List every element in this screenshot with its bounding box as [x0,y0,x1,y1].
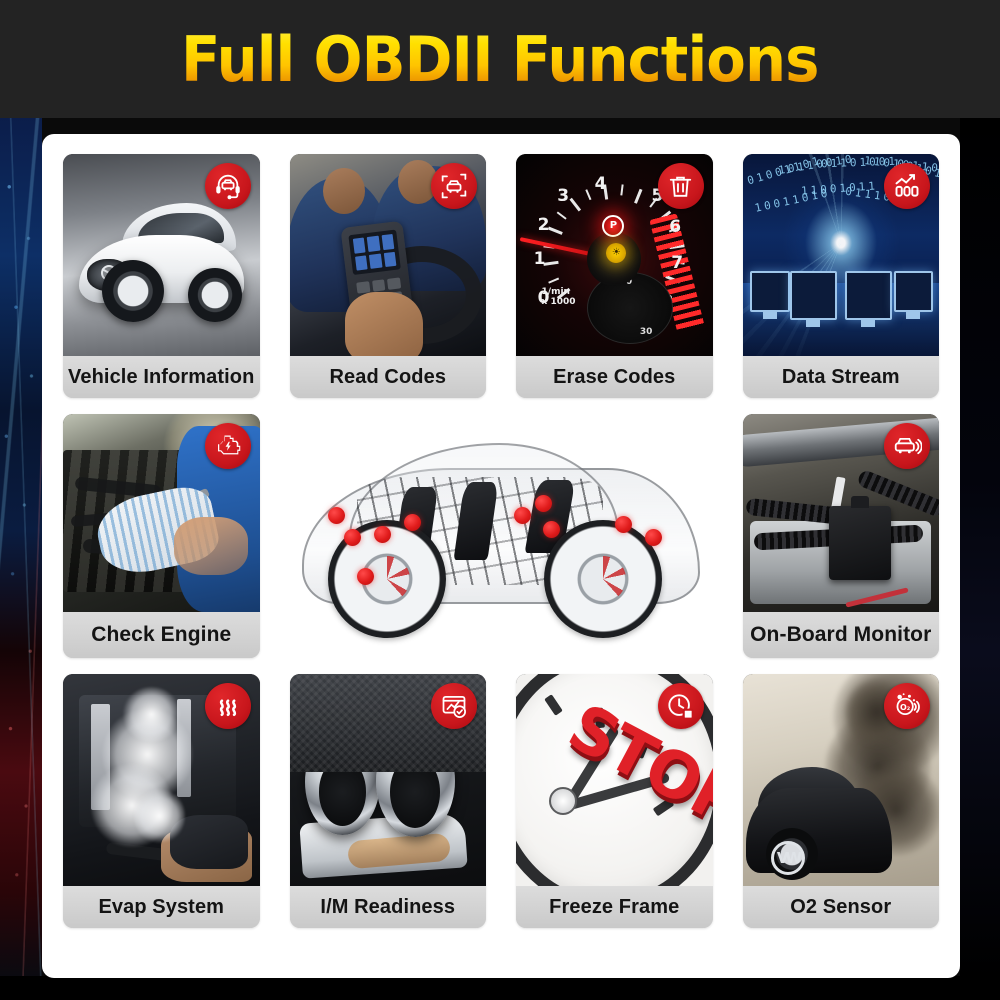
card-media-im-readiness [290,674,487,886]
feature-card-read-codes[interactable]: Read Codes [290,154,487,398]
feature-card-on-board-monitor[interactable]: On-Board Monitor [743,414,940,658]
content-panel: Vehicle Information [42,134,960,978]
right-dark-strip [960,118,1000,978]
card-label-read-codes: Read Codes [290,356,487,398]
gauge-tick-4: 4 [595,174,607,194]
gauge-unit-label: 1/min x 1000 [542,287,576,308]
feature-grid: Vehicle Information [63,154,939,958]
card-label-freeze-frame: Freeze Frame [516,886,713,928]
vw-badge: VW [771,841,805,875]
sensor-dot [357,568,374,585]
card-media-evap-system [63,674,260,886]
feature-card-check-engine[interactable]: Check Engine [63,414,260,658]
page-title: Full OBDII Functions [181,23,818,96]
gauge-tick-2: 2 [538,215,550,235]
report-check-icon [431,683,477,729]
svg-text:O₂: O₂ [900,703,911,712]
feature-card-vehicle-information[interactable]: Vehicle Information [63,154,260,398]
sensor-dot [514,507,531,524]
sensor-dot [535,495,552,512]
check-engine-icon [205,423,251,469]
clock-stop-icon [658,683,704,729]
left-tech-texture-strip [0,118,42,978]
bottom-black-strip [0,976,1000,1000]
card-label-check-engine: Check Engine [63,612,260,658]
card-label-on-board-monitor: On-Board Monitor [743,612,940,658]
trash-icon [658,163,704,209]
gauge-tick-6: 6 [669,217,681,237]
feature-card-evap-system[interactable]: Evap System [63,674,260,928]
card-media-freeze-frame: STOP [516,674,713,886]
bar-chart-trend-icon [884,163,930,209]
vapor-waves-icon [205,683,251,729]
card-label-im-readiness: I/M Readiness [290,886,487,928]
gauge-tick-7: 7 [671,253,683,273]
parking-brake-telltale: P [602,215,624,237]
card-media-data-stream: 01001101 10110010 01101001 11010110 0010… [743,154,940,356]
xray-car-illustration [290,414,713,658]
feature-card-erase-codes[interactable]: 0 1 2 3 4 5 6 7 8 1/min x 1000 90 30 [516,154,713,398]
car-signal-icon [884,423,930,469]
card-label-data-stream: Data Stream [743,356,940,398]
gauge-tick-1: 1 [534,249,546,269]
o2-sensor-icon: O₂ [884,683,930,729]
card-label-erase-codes: Erase Codes [516,356,713,398]
feature-card-im-readiness[interactable]: I/M Readiness [290,674,487,928]
feature-card-freeze-frame[interactable]: STOP Freeze Frame [516,674,713,928]
feature-card-o2-sensor[interactable]: VW O₂ O2 Sensor [743,674,940,928]
card-label-o2-sensor: O2 Sensor [743,886,940,928]
sensor-dot [645,529,662,546]
card-label-evap-system: Evap System [63,886,260,928]
card-media-on-board-monitor [743,414,940,612]
sensor-dot [404,514,421,531]
card-label-vehicle-information: Vehicle Information [63,356,260,398]
card-media-check-engine [63,414,260,612]
gauge-tick-3: 3 [557,186,569,206]
sensor-dot [328,507,345,524]
card-media-read-codes [290,154,487,356]
card-media-o2-sensor: VW O₂ [743,674,940,886]
gauge-sub-dial: 90 30 [587,272,673,344]
card-media-erase-codes: 0 1 2 3 4 5 6 7 8 1/min x 1000 90 30 [516,154,713,356]
page-header: Full OBDII Functions [0,0,1000,118]
scan-car-icon [431,163,477,209]
card-media-vehicle-information [63,154,260,356]
feature-card-data-stream[interactable]: 01001101 10110010 01101001 11010110 0010… [743,154,940,398]
headset-car-icon [205,163,251,209]
